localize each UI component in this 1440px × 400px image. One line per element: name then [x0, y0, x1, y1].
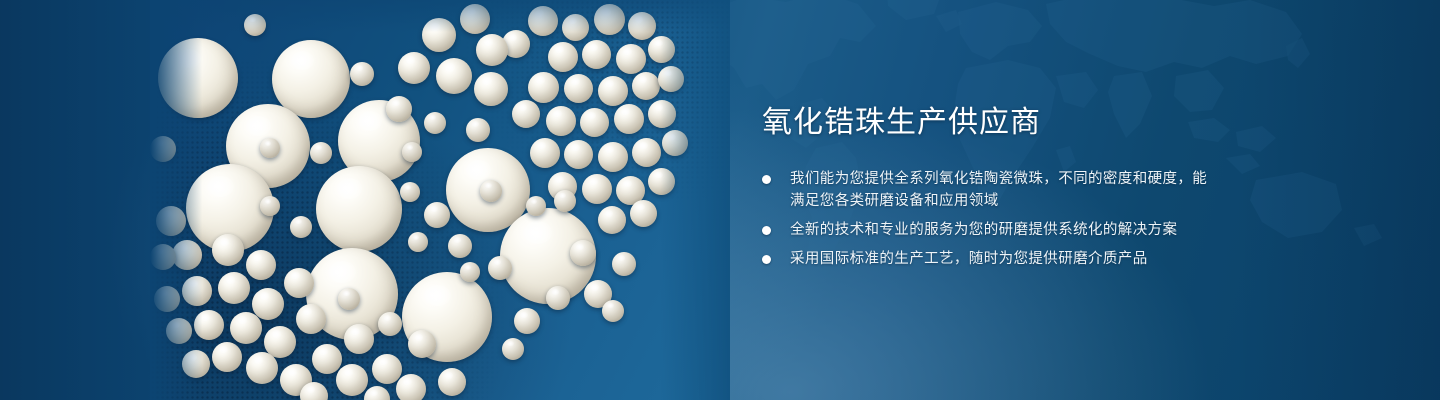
hero-banner: 氧化锆珠生产供应商 我们能为您提供全系列氧化锆陶瓷微珠，不同的密度和硬度，能满足… [0, 0, 1440, 400]
banner-copy: 氧化锆珠生产供应商 我们能为您提供全系列氧化锆陶瓷微珠，不同的密度和硬度，能满足… [762, 104, 1222, 270]
list-item-label: 采用国际标准的生产工艺，随时为您提供研磨介质产品 [790, 251, 1148, 267]
bullet-dot-icon [762, 226, 771, 235]
page-title: 氧化锆珠生产供应商 [762, 104, 1222, 142]
feature-list: 我们能为您提供全系列氧化锆陶瓷微珠，不同的密度和硬度，能满足您各类研磨设备和应用… [762, 168, 1222, 270]
bullet-dot-icon [762, 175, 771, 184]
list-item: 采用国际标准的生产工艺，随时为您提供研磨介质产品 [762, 248, 1222, 270]
list-item: 我们能为您提供全系列氧化锆陶瓷微珠，不同的密度和硬度，能满足您各类研磨设备和应用… [762, 168, 1222, 212]
bullet-dot-icon [762, 255, 771, 264]
bead-cluster [150, 0, 730, 400]
list-item: 全新的技术和专业的服务为您的研磨提供系统化的解决方案 [762, 219, 1222, 241]
product-photo-zirconia-beads [150, 0, 730, 400]
list-item-label: 我们能为您提供全系列氧化锆陶瓷微珠，不同的密度和硬度，能满足您各类研磨设备和应用… [790, 171, 1207, 209]
list-item-label: 全新的技术和专业的服务为您的研磨提供系统化的解决方案 [790, 222, 1177, 238]
